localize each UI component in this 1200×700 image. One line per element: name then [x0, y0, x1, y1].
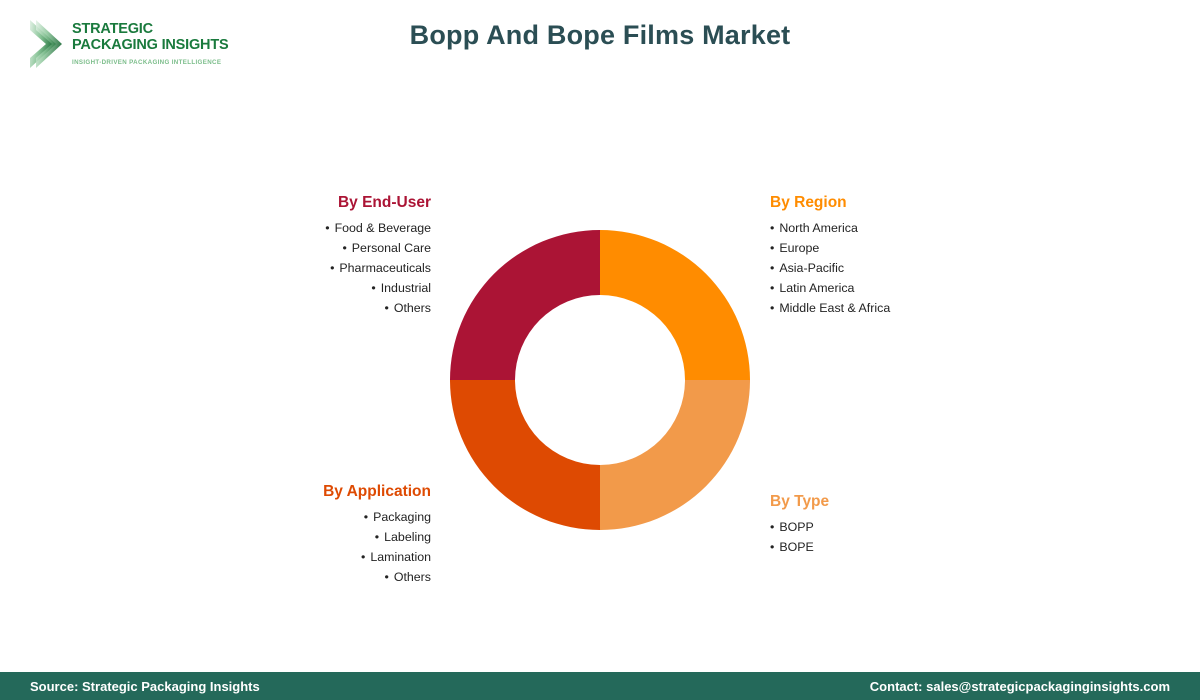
donut-slice-region — [600, 230, 750, 380]
logo-tagline: INSIGHT-DRIVEN PACKAGING INTELLIGENCE — [72, 60, 228, 66]
list-item: Others — [225, 567, 431, 587]
segment-list-region: North America Europe Asia-Pacific Latin … — [770, 218, 1010, 318]
segment-list-application: Packaging Labeling Lamination Others — [225, 507, 431, 587]
footer-bar: Source: Strategic Packaging Insights Con… — [0, 672, 1200, 700]
segment-heading-type: By Type — [770, 493, 1010, 511]
segment-block-end-user: By End-User Food & Beverage Personal Car… — [225, 194, 431, 318]
list-item: BOPE — [770, 537, 1010, 557]
list-item: Middle East & Africa — [770, 298, 1010, 318]
donut-slice-enduser — [450, 230, 600, 380]
segment-block-type: By Type BOPP BOPE — [770, 493, 1010, 557]
list-item: Personal Care — [225, 238, 431, 258]
donut-slice-type — [600, 380, 750, 530]
list-item: BOPP — [770, 517, 1010, 537]
segment-block-application: By Application Packaging Labeling Lamina… — [225, 483, 431, 587]
segment-heading-region: By Region — [770, 194, 1010, 212]
segment-list-end-user: Food & Beverage Personal Care Pharmaceut… — [225, 218, 431, 318]
list-item: Industrial — [225, 278, 431, 298]
footer-source: Source: Strategic Packaging Insights — [30, 679, 260, 694]
donut-slice-application — [450, 380, 600, 530]
page-title: Bopp And Bope Films Market — [0, 20, 1200, 51]
list-item: Others — [225, 298, 431, 318]
footer-contact: Contact: sales@strategicpackaginginsight… — [870, 679, 1170, 694]
list-item: Europe — [770, 238, 1010, 258]
donut-chart — [450, 230, 750, 530]
segment-heading-end-user: By End-User — [225, 194, 431, 212]
segment-block-region: By Region North America Europe Asia-Paci… — [770, 194, 1010, 318]
list-item: Food & Beverage — [225, 218, 431, 238]
list-item: Lamination — [225, 547, 431, 567]
list-item: Latin America — [770, 278, 1010, 298]
list-item: Asia-Pacific — [770, 258, 1010, 278]
segment-heading-application: By Application — [225, 483, 431, 501]
list-item: Pharmaceuticals — [225, 258, 431, 278]
list-item: North America — [770, 218, 1010, 238]
segment-list-type: BOPP BOPE — [770, 517, 1010, 557]
list-item: Labeling — [225, 527, 431, 547]
list-item: Packaging — [225, 507, 431, 527]
